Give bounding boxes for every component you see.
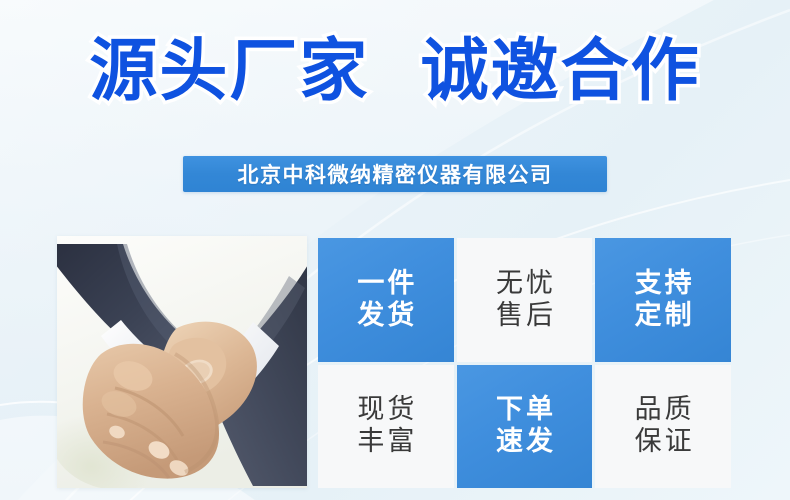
feature-cell-3: 现货 丰富 <box>318 365 454 489</box>
feature-grid: 一件 发货 无忧 售后 支持 定制 现货 丰富 下单 速发 品质 保证 <box>318 238 731 488</box>
feature-cell-2-line2: 定制 <box>632 300 695 332</box>
feature-cell-1-line1: 无忧 <box>493 268 556 300</box>
feature-cell-1-line2: 售后 <box>493 300 556 332</box>
feature-cell-0-line2: 发货 <box>354 300 417 332</box>
handshake-photo <box>57 236 307 488</box>
company-name-bar: 北京中科微纳精密仪器有限公司 <box>183 156 607 192</box>
feature-cell-5: 品质 保证 <box>595 365 731 489</box>
feature-cell-2: 支持 定制 <box>595 238 731 362</box>
feature-cell-1: 无忧 售后 <box>457 238 593 362</box>
feature-cell-4-line2: 速发 <box>493 426 556 458</box>
feature-cell-0: 一件 发货 <box>318 238 454 362</box>
feature-cell-5-line1: 品质 <box>632 394 695 426</box>
feature-cell-5-line2: 保证 <box>632 426 695 458</box>
company-name-text: 北京中科微纳精密仪器有限公司 <box>238 159 553 189</box>
headline-text: 源头厂家 诚邀合作 <box>89 38 700 106</box>
feature-cell-2-line1: 支持 <box>632 268 695 300</box>
feature-cell-4: 下单 速发 <box>457 365 593 489</box>
feature-cell-3-line1: 现货 <box>354 394 417 426</box>
feature-cell-4-line1: 下单 <box>493 394 556 426</box>
promotional-banner: 源头厂家 诚邀合作 北京中科微纳精密仪器有限公司 <box>0 0 790 500</box>
feature-cell-0-line1: 一件 <box>354 268 417 300</box>
feature-cell-3-line2: 丰富 <box>354 426 417 458</box>
headline-container: 源头厂家 诚邀合作 <box>0 38 790 106</box>
